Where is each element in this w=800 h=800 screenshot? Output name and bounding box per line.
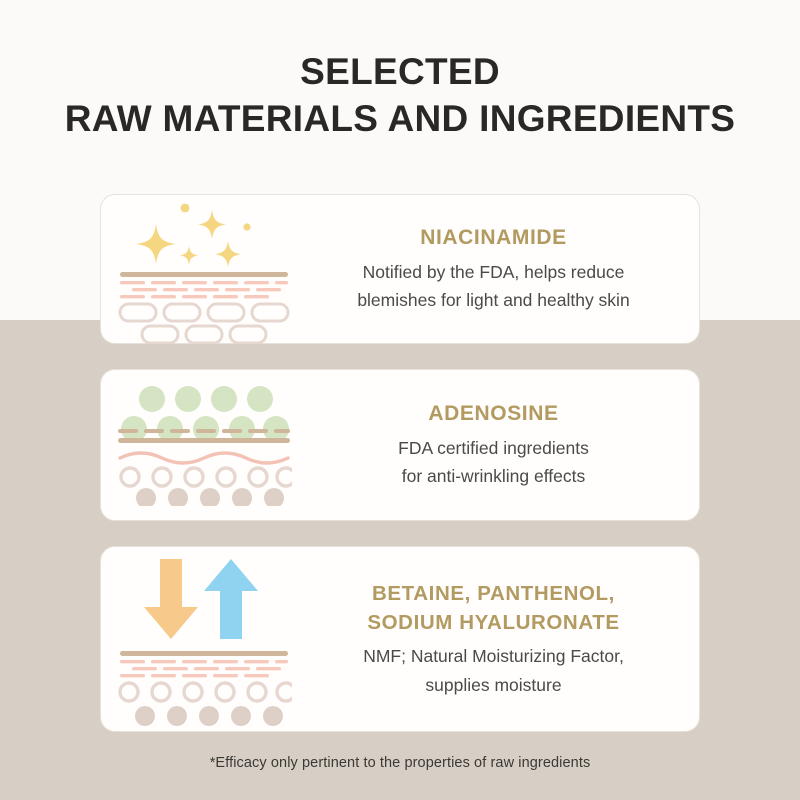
ingredient-text-betaine-panthenol-sodium-hyaluronate: BETAINE, PANTHENOL, SODIUM HYALURONATE N… — [306, 579, 699, 699]
infographic-page: SELECTED RAW MATERIALS AND INGREDIENTS — [0, 0, 800, 800]
page-title: SELECTED RAW MATERIALS AND INGREDIENTS — [0, 48, 800, 143]
ingredient-text-adenosine: ADENOSINE FDA certified ingredients for … — [306, 399, 699, 491]
ingredient-description-line-1: NMF; Natural Moisturizing Factor, — [306, 642, 681, 670]
moisture-arrows-skin-icon — [101, 551, 306, 727]
ingredient-description: FDA certified ingredients for anti-wrink… — [306, 434, 681, 491]
ingredient-description: NMF; Natural Moisturizing Factor, suppli… — [306, 642, 681, 699]
ingredient-title: ADENOSINE — [306, 399, 681, 429]
footnote-disclaimer: *Efficacy only pertinent to the properti… — [0, 755, 800, 771]
down-arrow-icon — [144, 559, 198, 639]
page-title-line-1: SELECTED — [0, 48, 800, 95]
up-arrow-icon — [204, 559, 258, 639]
ingredient-description-line-1: Notified by the FDA, helps reduce — [306, 258, 681, 286]
ingredient-title: NIACINAMIDE — [306, 223, 681, 253]
ingredient-description-line-1: FDA certified ingredients — [306, 434, 681, 462]
ingredient-title-line-1: BETAINE, PANTHENOL, — [306, 579, 681, 608]
ingredient-description-line-2: blemishes for light and healthy skin — [306, 286, 681, 314]
sparkles-skin-layers-icon — [101, 194, 306, 344]
ingredient-description-line-2: for anti-wrinkling effects — [306, 462, 681, 490]
ingredient-description-line-2: supplies moisture — [306, 671, 681, 699]
ingredient-description: Notified by the FDA, helps reduce blemis… — [306, 258, 681, 315]
page-title-line-2: RAW MATERIALS AND INGREDIENTS — [0, 95, 800, 142]
ingredient-card-niacinamide[interactable]: NIACINAMIDE Notified by the FDA, helps r… — [100, 194, 700, 344]
ingredient-card-adenosine[interactable]: ADENOSINE FDA certified ingredients for … — [100, 369, 700, 521]
green-particles-wave-skin-icon — [101, 384, 306, 506]
ingredient-card-betaine-panthenol-sodium-hyaluronate[interactable]: BETAINE, PANTHENOL, SODIUM HYALURONATE N… — [100, 546, 700, 732]
ingredient-text-niacinamide: NIACINAMIDE Notified by the FDA, helps r… — [306, 223, 699, 315]
ingredient-title-line-2: SODIUM HYALURONATE — [306, 608, 681, 637]
